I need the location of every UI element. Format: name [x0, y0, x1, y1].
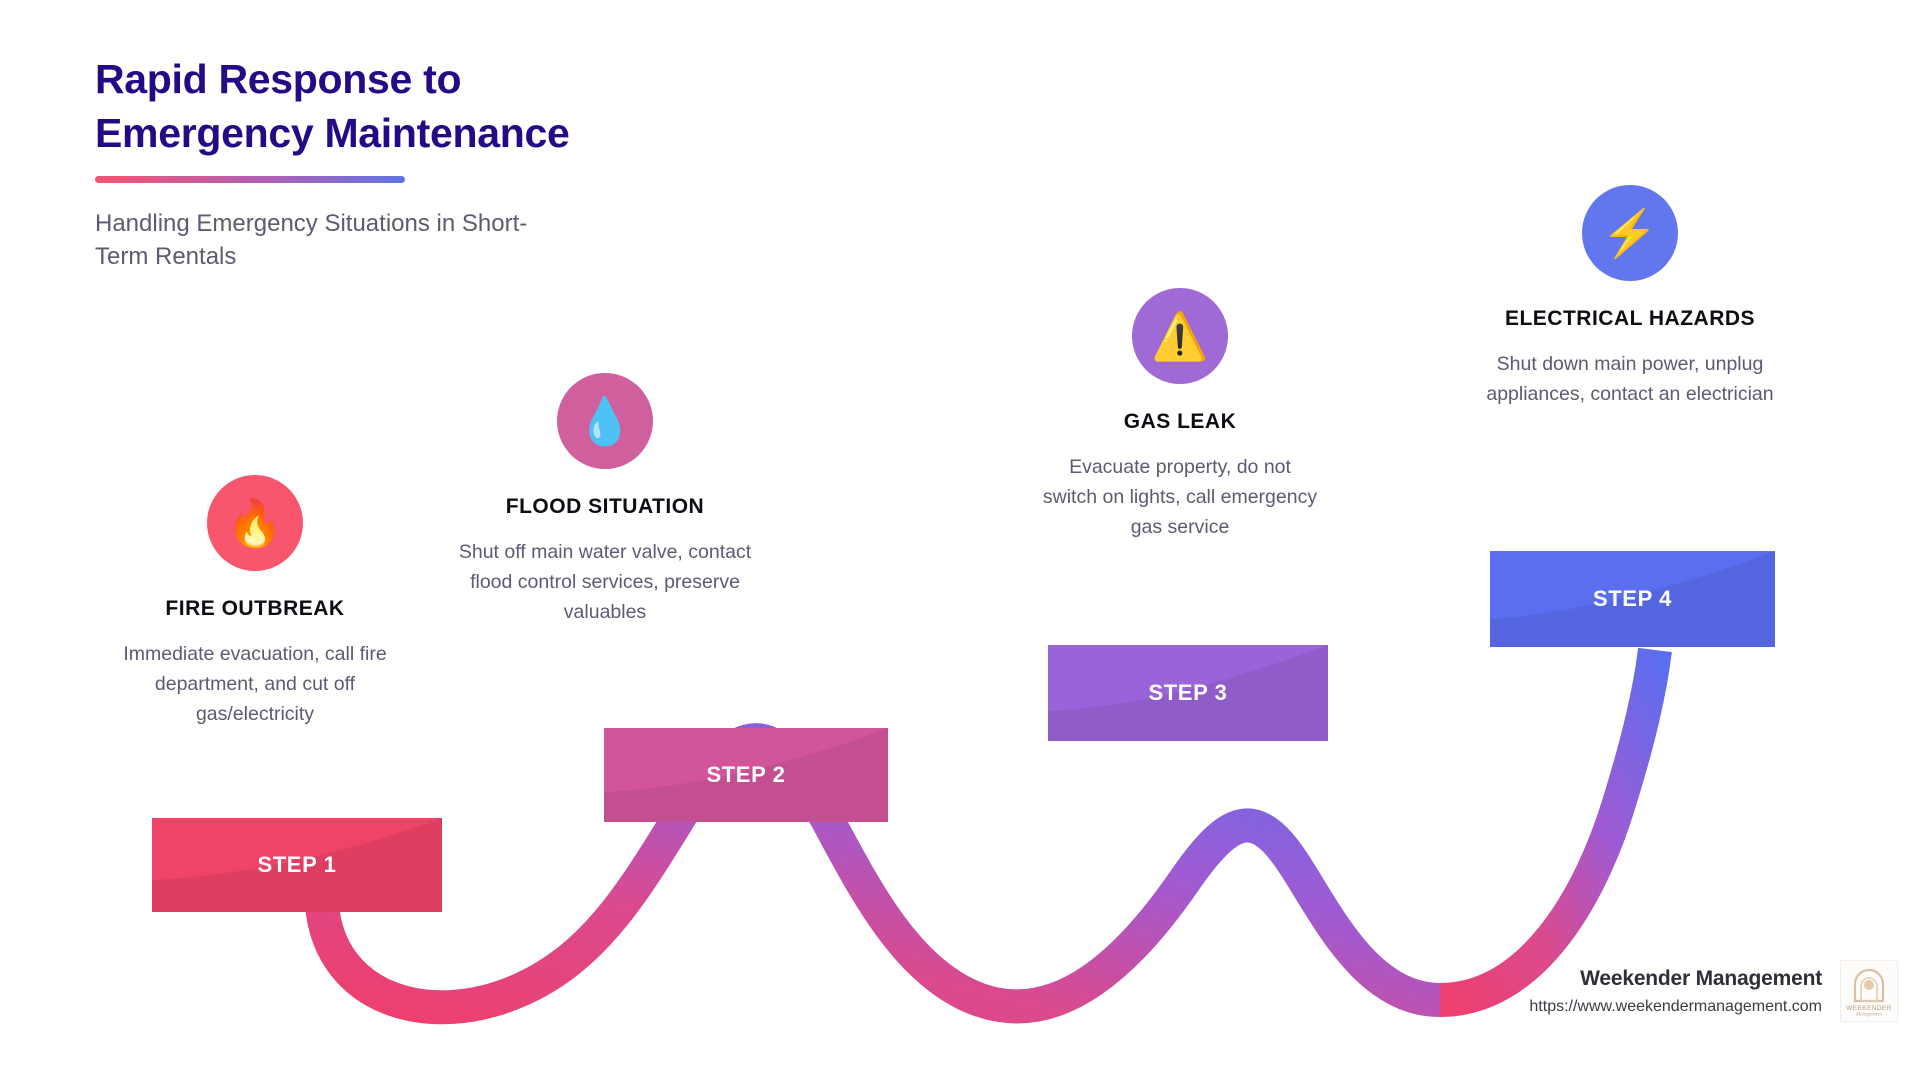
- ribbon-segment-upper: [1440, 650, 1655, 1000]
- brand-name: Weekender Management: [1529, 967, 1822, 991]
- step-banner-label-1: STEP 1: [257, 852, 336, 878]
- footer-branding: Weekender Management https://www.weekend…: [1529, 960, 1898, 1022]
- warning-triangle-icon-glyph: ⚠️: [1151, 313, 1208, 359]
- warning-triangle-icon: ⚠️: [1132, 288, 1228, 384]
- infographic-canvas: Rapid Response to Emergency Maintenance …: [0, 0, 1920, 1080]
- lightning-bolt-icon-glyph: ⚡: [1601, 210, 1658, 256]
- step-banner-1[interactable]: STEP 1: [152, 818, 442, 912]
- logo-wordmark: WEEKENDER: [1846, 1005, 1892, 1012]
- lightning-bolt-icon: ⚡: [1582, 185, 1678, 281]
- step-title-1: FIRE OUTBREAK: [110, 597, 400, 621]
- step-title-3: GAS LEAK: [1040, 410, 1320, 434]
- step-banner-label-3: STEP 3: [1148, 680, 1227, 706]
- step-banner-4[interactable]: STEP 4: [1490, 551, 1775, 647]
- step-block-3: ⚠️ GAS LEAK Evacuate property, do not sw…: [1040, 288, 1320, 543]
- step-description-3: Evacuate property, do not switch on ligh…: [1040, 452, 1320, 543]
- step-block-2: 💧 FLOOD SITUATION Shut off main water va…: [455, 373, 755, 628]
- step-block-4: ⚡ ELECTRICAL HAZARDS Shut down main powe…: [1480, 185, 1780, 409]
- brand-logo-icon: WEEKENDER Management: [1840, 960, 1898, 1022]
- fire-icon-glyph: 🔥: [226, 500, 283, 546]
- step-banner-label-4: STEP 4: [1593, 586, 1672, 612]
- logo-subwordmark: Management: [1855, 1013, 1883, 1018]
- water-drop-icon: 💧: [557, 373, 653, 469]
- step-banner-3[interactable]: STEP 3: [1048, 645, 1328, 741]
- brand-url[interactable]: https://www.weekendermanagement.com: [1529, 998, 1822, 1016]
- step-block-1: 🔥 FIRE OUTBREAK Immediate evacuation, ca…: [110, 475, 400, 730]
- water-drop-icon-glyph: 💧: [576, 398, 633, 444]
- step-description-2: Shut off main water valve, contact flood…: [455, 537, 755, 628]
- step-description-1: Immediate evacuation, call fire departme…: [110, 639, 400, 730]
- step-description-4: Shut down main power, unplug appliances,…: [1480, 349, 1780, 409]
- step-banner-label-2: STEP 2: [706, 762, 785, 788]
- step-title-4: ELECTRICAL HAZARDS: [1480, 307, 1780, 331]
- footer-text: Weekender Management https://www.weekend…: [1529, 967, 1822, 1016]
- step-title-2: FLOOD SITUATION: [455, 495, 755, 519]
- fire-icon: 🔥: [207, 475, 303, 571]
- step-banner-2[interactable]: STEP 2: [604, 728, 888, 822]
- arch-logo-glyph: WEEKENDER Management: [1846, 965, 1892, 1017]
